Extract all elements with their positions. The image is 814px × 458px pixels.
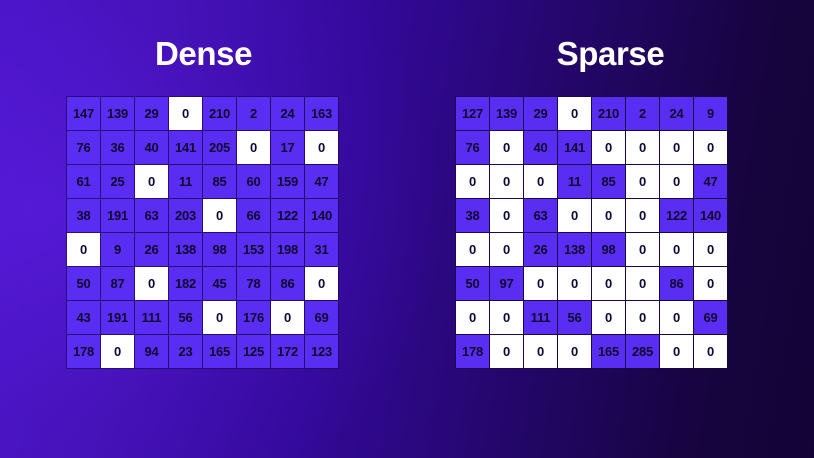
matrix-cell: 56 <box>558 301 591 334</box>
matrix-cell: 9 <box>694 97 727 130</box>
matrix-cell: 69 <box>305 301 338 334</box>
matrix-cell: 63 <box>524 199 557 232</box>
matrix-cell: 0 <box>592 131 625 164</box>
matrix-cell: 0 <box>490 335 523 368</box>
matrix-cell: 0 <box>456 301 489 334</box>
dense-panel: Dense 1471392902102241637636401412050170… <box>0 0 407 458</box>
matrix-cell: 0 <box>592 267 625 300</box>
matrix-cell: 9 <box>101 233 134 266</box>
matrix-cell: 40 <box>135 131 168 164</box>
matrix-cell: 63 <box>135 199 168 232</box>
matrix-cell: 285 <box>626 335 659 368</box>
matrix-cell: 38 <box>456 199 489 232</box>
matrix-cell: 0 <box>694 233 727 266</box>
matrix-cell: 178 <box>456 335 489 368</box>
matrix-cell: 176 <box>237 301 270 334</box>
matrix-cell: 165 <box>203 335 236 368</box>
matrix-cell: 50 <box>67 267 100 300</box>
matrix-cell: 0 <box>558 335 591 368</box>
matrix-cell: 0 <box>694 131 727 164</box>
matrix-cell: 76 <box>456 131 489 164</box>
matrix-cell: 2 <box>626 97 659 130</box>
matrix-cell: 0 <box>660 131 693 164</box>
matrix-cell: 141 <box>558 131 591 164</box>
matrix-cell: 147 <box>67 97 100 130</box>
matrix-cell: 60 <box>237 165 270 198</box>
matrix-cell: 0 <box>67 233 100 266</box>
matrix-cell: 0 <box>626 199 659 232</box>
matrix-cell: 122 <box>660 199 693 232</box>
matrix-cell: 94 <box>135 335 168 368</box>
matrix-cell: 29 <box>135 97 168 130</box>
matrix-cell: 40 <box>524 131 557 164</box>
matrix-cell: 0 <box>135 165 168 198</box>
slide-canvas: Dense 1471392902102241637636401412050170… <box>0 0 814 458</box>
matrix-cell: 47 <box>305 165 338 198</box>
matrix-cell: 0 <box>456 165 489 198</box>
matrix-cell: 31 <box>305 233 338 266</box>
matrix-cell: 69 <box>694 301 727 334</box>
matrix-cell: 45 <box>203 267 236 300</box>
matrix-cell: 205 <box>203 131 236 164</box>
matrix-cell: 0 <box>592 301 625 334</box>
matrix-cell: 38 <box>67 199 100 232</box>
matrix-cell: 76 <box>67 131 100 164</box>
matrix-cell: 141 <box>169 131 202 164</box>
matrix-cell: 0 <box>558 97 591 130</box>
matrix-cell: 0 <box>660 233 693 266</box>
matrix-cell: 0 <box>135 267 168 300</box>
matrix-cell: 139 <box>490 97 523 130</box>
matrix-cell: 0 <box>694 267 727 300</box>
matrix-cell: 123 <box>305 335 338 368</box>
matrix-cell: 11 <box>169 165 202 198</box>
matrix-cell: 127 <box>456 97 489 130</box>
matrix-cell: 139 <box>101 97 134 130</box>
matrix-cell: 36 <box>101 131 134 164</box>
matrix-cell: 56 <box>169 301 202 334</box>
matrix-cell: 0 <box>169 97 202 130</box>
matrix-cell: 165 <box>592 335 625 368</box>
dense-panel-title: Dense <box>0 32 407 76</box>
matrix-cell: 25 <box>101 165 134 198</box>
matrix-cell: 0 <box>203 301 236 334</box>
matrix-cell: 163 <box>305 97 338 130</box>
matrix-cell: 159 <box>271 165 304 198</box>
matrix-cell: 0 <box>490 165 523 198</box>
matrix-cell: 98 <box>203 233 236 266</box>
matrix-cell: 140 <box>305 199 338 232</box>
matrix-cell: 97 <box>490 267 523 300</box>
matrix-cell: 0 <box>626 267 659 300</box>
matrix-cell: 24 <box>660 97 693 130</box>
matrix-cell: 0 <box>660 335 693 368</box>
matrix-cell: 78 <box>237 267 270 300</box>
matrix-cell: 0 <box>524 165 557 198</box>
matrix-cell: 26 <box>524 233 557 266</box>
matrix-cell: 0 <box>490 131 523 164</box>
matrix-cell: 140 <box>694 199 727 232</box>
matrix-cell: 98 <box>592 233 625 266</box>
matrix-cell: 0 <box>490 301 523 334</box>
matrix-cell: 0 <box>524 335 557 368</box>
sparse-panel-title: Sparse <box>407 32 814 76</box>
matrix-cell: 0 <box>305 131 338 164</box>
matrix-cell: 0 <box>558 267 591 300</box>
matrix-cell: 0 <box>592 199 625 232</box>
matrix-cell: 111 <box>135 301 168 334</box>
matrix-cell: 0 <box>558 199 591 232</box>
matrix-cell: 43 <box>67 301 100 334</box>
matrix-cell: 11 <box>558 165 591 198</box>
matrix-cell: 0 <box>271 301 304 334</box>
matrix-cell: 122 <box>271 199 304 232</box>
matrix-cell: 0 <box>490 233 523 266</box>
matrix-cell: 153 <box>237 233 270 266</box>
matrix-cell: 85 <box>592 165 625 198</box>
matrix-cell: 66 <box>237 199 270 232</box>
sparse-panel: Sparse 127139290210224976040141000000011… <box>407 0 814 458</box>
matrix-cell: 0 <box>203 199 236 232</box>
matrix-cell: 178 <box>67 335 100 368</box>
matrix-cell: 24 <box>271 97 304 130</box>
matrix-cell: 0 <box>524 267 557 300</box>
matrix-cell: 29 <box>524 97 557 130</box>
matrix-cell: 172 <box>271 335 304 368</box>
matrix-cell: 0 <box>626 131 659 164</box>
matrix-cell: 182 <box>169 267 202 300</box>
matrix-cell: 86 <box>271 267 304 300</box>
matrix-cell: 61 <box>67 165 100 198</box>
matrix-cell: 111 <box>524 301 557 334</box>
matrix-cell: 17 <box>271 131 304 164</box>
matrix-cell: 23 <box>169 335 202 368</box>
matrix-cell: 125 <box>237 335 270 368</box>
matrix-cell: 0 <box>305 267 338 300</box>
matrix-cell: 191 <box>101 199 134 232</box>
matrix-cell: 0 <box>101 335 134 368</box>
matrix-cell: 0 <box>626 165 659 198</box>
matrix-cell: 2 <box>237 97 270 130</box>
matrix-cell: 0 <box>237 131 270 164</box>
sparse-matrix-grid: 1271392902102249760401410000000118500473… <box>455 96 728 369</box>
matrix-cell: 138 <box>558 233 591 266</box>
matrix-cell: 0 <box>626 233 659 266</box>
matrix-cell: 198 <box>271 233 304 266</box>
matrix-cell: 86 <box>660 267 693 300</box>
dense-matrix-grid: 1471392902102241637636401412050170612501… <box>66 96 339 369</box>
matrix-cell: 0 <box>626 301 659 334</box>
matrix-cell: 85 <box>203 165 236 198</box>
matrix-cell: 0 <box>660 165 693 198</box>
matrix-cell: 0 <box>694 335 727 368</box>
matrix-cell: 50 <box>456 267 489 300</box>
matrix-cell: 0 <box>660 301 693 334</box>
matrix-cell: 210 <box>592 97 625 130</box>
matrix-cell: 0 <box>456 233 489 266</box>
matrix-cell: 47 <box>694 165 727 198</box>
matrix-cell: 87 <box>101 267 134 300</box>
matrix-cell: 191 <box>101 301 134 334</box>
matrix-cell: 0 <box>490 199 523 232</box>
matrix-cell: 26 <box>135 233 168 266</box>
matrix-cell: 138 <box>169 233 202 266</box>
matrix-cell: 210 <box>203 97 236 130</box>
matrix-cell: 203 <box>169 199 202 232</box>
